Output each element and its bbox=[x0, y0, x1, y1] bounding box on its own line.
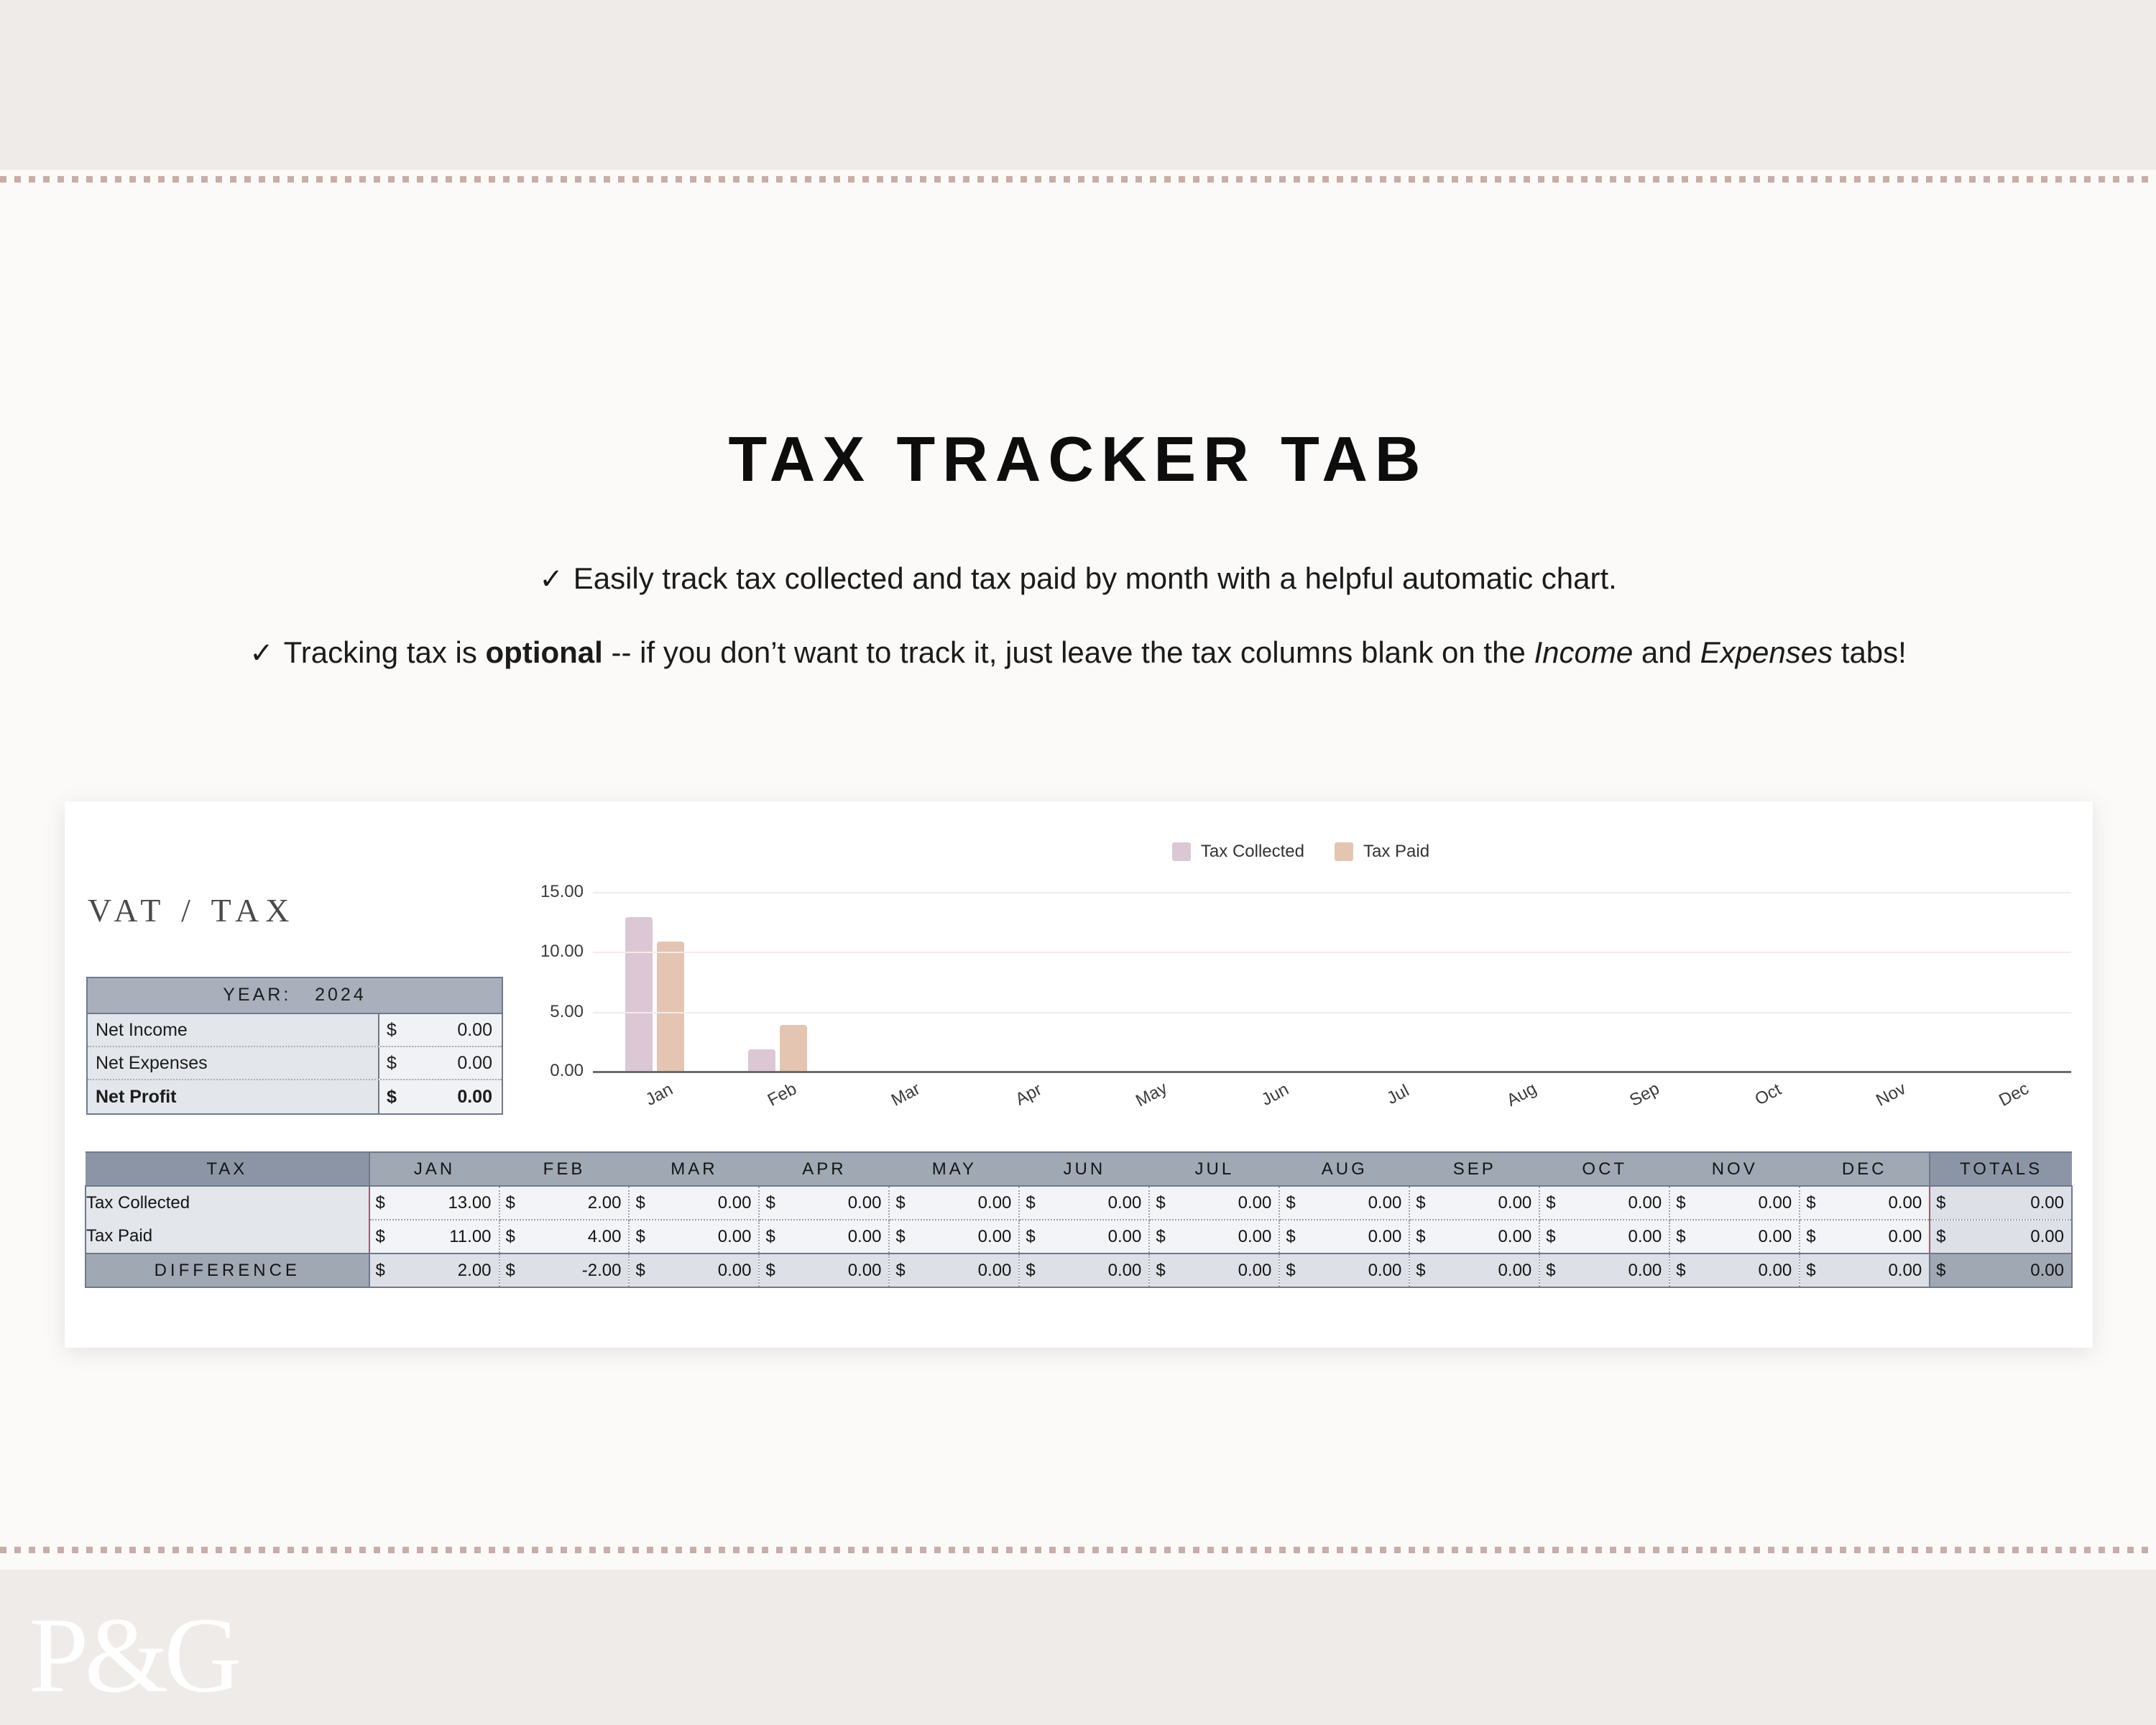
cell-amount: 0.00 bbox=[1108, 1193, 1142, 1213]
currency-symbol: $ bbox=[635, 1261, 645, 1281]
chart-month-slot: Jan bbox=[593, 893, 716, 1073]
chart-bar bbox=[780, 1025, 807, 1073]
currency-symbol: $ bbox=[1676, 1227, 1685, 1247]
currency-symbol: $ bbox=[1546, 1227, 1555, 1247]
currency-symbol: $ bbox=[1546, 1193, 1555, 1213]
chart-legend: Tax CollectedTax Paid bbox=[525, 842, 2077, 862]
bullet-2-text-c: and bbox=[1633, 635, 1700, 669]
cell-amount: 0.00 bbox=[1888, 1261, 1922, 1281]
chart-month-slot: Sep bbox=[1578, 893, 1701, 1073]
table-cell-oct[interactable]: $0.00 bbox=[1539, 1253, 1669, 1287]
table-header-dec: DEC bbox=[1800, 1152, 1930, 1186]
cell-amount: 0.00 bbox=[1628, 1261, 1662, 1281]
summary-label: Net Income bbox=[88, 1020, 378, 1041]
year-row: YEAR: 2024 bbox=[88, 978, 502, 1014]
currency-symbol: $ bbox=[1286, 1193, 1295, 1213]
table-row: Tax Collected$13.00$2.00$0.00$0.00$0.00$… bbox=[86, 1186, 2072, 1220]
tax-bar-chart: Tax CollectedTax Paid JanFebMarAprMayJun… bbox=[525, 830, 2077, 1132]
table-header-row: TAXJANFEBMARAPRMAYJUNJULAUGSEPOCTNOVDECT… bbox=[86, 1152, 2072, 1186]
table-cell-oct[interactable]: $0.00 bbox=[1539, 1186, 1669, 1220]
chart-plot-area: JanFebMarAprMayJunJulAugSepOctNovDec 0.0… bbox=[593, 893, 2071, 1073]
table-cell-jul[interactable]: $0.00 bbox=[1149, 1186, 1279, 1220]
table-cell-jan[interactable]: $2.00 bbox=[369, 1253, 499, 1287]
bullet-item-2: ✓Tracking tax is optional -- if you don’… bbox=[0, 627, 2156, 678]
table-header-apr: APR bbox=[759, 1152, 889, 1186]
table-row-label: Tax Paid bbox=[86, 1220, 369, 1253]
cell-amount: 0.00 bbox=[1498, 1193, 1532, 1213]
table-cell-mar[interactable]: $0.00 bbox=[629, 1186, 759, 1220]
table-cell-jun[interactable]: $0.00 bbox=[1019, 1186, 1149, 1220]
table-cell-jan[interactable]: $13.00 bbox=[369, 1186, 499, 1220]
bullet-2-income-tab: Income bbox=[1534, 635, 1634, 669]
table-cell-apr[interactable]: $0.00 bbox=[759, 1220, 889, 1253]
table-cell-jun[interactable]: $0.00 bbox=[1019, 1220, 1149, 1253]
currency-symbol: $ bbox=[1936, 1193, 1945, 1213]
summary-value-cell: $ 0.00 bbox=[378, 1014, 502, 1046]
table-cell-aug[interactable]: $0.00 bbox=[1279, 1220, 1409, 1253]
legend-swatch-icon bbox=[1335, 842, 1353, 861]
chart-x-tick-label: Dec bbox=[1996, 1079, 2032, 1111]
table-row-label: DIFFERENCE bbox=[86, 1253, 369, 1287]
table-cell-total[interactable]: $0.00 bbox=[1930, 1186, 2072, 1220]
chart-y-tick-label: 15.00 bbox=[540, 882, 584, 902]
feature-bullets: ✓Easily track tax collected and tax paid… bbox=[0, 553, 2156, 678]
summary-amount: 0.00 bbox=[457, 1020, 492, 1041]
chart-month-slot: Mar bbox=[839, 893, 962, 1073]
currency-symbol: $ bbox=[1806, 1261, 1815, 1281]
cell-amount: 0.00 bbox=[1108, 1227, 1142, 1247]
table-header-tax: TAX bbox=[86, 1152, 369, 1186]
currency-symbol: $ bbox=[506, 1227, 515, 1247]
cell-amount: 0.00 bbox=[1368, 1193, 1402, 1213]
table-header-feb: FEB bbox=[499, 1152, 630, 1186]
currency-symbol: $ bbox=[1026, 1261, 1035, 1281]
table-cell-feb[interactable]: $2.00 bbox=[499, 1186, 630, 1220]
currency-symbol: $ bbox=[1416, 1261, 1425, 1281]
chart-x-tick-label: May bbox=[1133, 1078, 1171, 1111]
summary-value-cell: $ 0.00 bbox=[378, 1047, 502, 1079]
chart-x-tick-label: Sep bbox=[1626, 1079, 1663, 1111]
table-header-totals: TOTALS bbox=[1930, 1152, 2072, 1186]
cell-amount: 0.00 bbox=[1498, 1261, 1532, 1281]
spreadsheet-card: VAT / TAX YEAR: 2024 Net Income $ 0.00 N… bbox=[65, 801, 2093, 1348]
table-header-aug: AUG bbox=[1279, 1152, 1409, 1186]
table-cell-dec[interactable]: $0.00 bbox=[1800, 1253, 1930, 1287]
table-cell-nov[interactable]: $0.00 bbox=[1669, 1253, 1800, 1287]
chart-month-slot: Jul bbox=[1332, 893, 1455, 1073]
chart-y-tick-label: 0.00 bbox=[550, 1061, 584, 1081]
summary-row-net-profit: Net Profit $ 0.00 bbox=[88, 1080, 502, 1113]
chart-month-slot: Apr bbox=[962, 893, 1085, 1073]
summary-row-net-expenses: Net Expenses $ 0.00 bbox=[88, 1047, 502, 1080]
cell-amount: 0.00 bbox=[718, 1261, 752, 1281]
bullet-2-emphasis: optional bbox=[486, 635, 603, 669]
year-value[interactable]: 2024 bbox=[315, 985, 367, 1005]
cell-amount: 0.00 bbox=[1108, 1261, 1142, 1281]
chart-x-tick-label: Apr bbox=[1012, 1080, 1045, 1110]
table-header-mar: MAR bbox=[629, 1152, 759, 1186]
top-dotted-divider bbox=[0, 176, 2156, 183]
chart-bar-group: JanFebMarAprMayJunJulAugSepOctNovDec bbox=[593, 893, 2071, 1073]
chart-month-slot: Oct bbox=[1702, 893, 1825, 1073]
bullet-2-text-b: -- if you don’t want to track it, just l… bbox=[603, 635, 1534, 669]
currency-symbol: $ bbox=[1416, 1227, 1425, 1247]
legend-swatch-icon bbox=[1172, 842, 1191, 861]
cell-amount: 0.00 bbox=[1758, 1193, 1792, 1213]
currency-symbol: $ bbox=[1286, 1227, 1295, 1247]
currency-symbol: $ bbox=[1546, 1261, 1555, 1281]
table-cell-mar[interactable]: $0.00 bbox=[629, 1253, 759, 1287]
currency-symbol: $ bbox=[1806, 1193, 1815, 1213]
legend-label: Tax Collected bbox=[1201, 842, 1304, 862]
chart-gridline: 15.00 bbox=[593, 892, 2071, 893]
cell-amount: 0.00 bbox=[1888, 1227, 1922, 1247]
table-cell-dec[interactable]: $0.00 bbox=[1800, 1186, 1930, 1220]
currency-symbol: $ bbox=[1156, 1193, 1165, 1213]
currency-symbol: $ bbox=[1806, 1227, 1815, 1247]
cell-amount: 4.00 bbox=[588, 1227, 622, 1247]
summary-value-cell: $ 0.00 bbox=[378, 1080, 502, 1113]
chart-bar bbox=[657, 942, 684, 1073]
currency-symbol: $ bbox=[895, 1227, 905, 1247]
check-icon: ✓ bbox=[539, 554, 563, 604]
currency-symbol: $ bbox=[1156, 1261, 1165, 1281]
tax-data-table: TAXJANFEBMARAPRMAYJUNJULAUGSEPOCTNOVDECT… bbox=[85, 1151, 2073, 1288]
table-cell-aug[interactable]: $0.00 bbox=[1279, 1253, 1409, 1287]
table-cell-total[interactable]: $0.00 bbox=[1930, 1253, 2072, 1287]
chart-month-slot: Dec bbox=[1948, 893, 2071, 1073]
currency-symbol: $ bbox=[765, 1261, 775, 1281]
table-row: DIFFERENCE$2.00$-2.00$0.00$0.00$0.00$0.0… bbox=[86, 1253, 2072, 1287]
cell-amount: 0.00 bbox=[1238, 1227, 1272, 1247]
table-cell-may[interactable]: $0.00 bbox=[889, 1186, 1019, 1220]
chart-bar bbox=[748, 1049, 775, 1073]
table-header-sep: SEP bbox=[1409, 1152, 1539, 1186]
table-header-may: MAY bbox=[889, 1152, 1019, 1186]
table-cell-nov[interactable]: $0.00 bbox=[1669, 1186, 1800, 1220]
table-row-label: Tax Collected bbox=[86, 1186, 369, 1220]
cell-amount: 0.00 bbox=[978, 1261, 1012, 1281]
currency-symbol: $ bbox=[1026, 1193, 1035, 1213]
currency-symbol: $ bbox=[387, 1087, 397, 1108]
cell-amount: 11.00 bbox=[449, 1227, 491, 1247]
table-cell-may[interactable]: $0.00 bbox=[889, 1220, 1019, 1253]
bottom-dotted-divider bbox=[0, 1547, 2156, 1553]
currency-symbol: $ bbox=[1286, 1261, 1295, 1281]
chart-y-tick-label: 5.00 bbox=[550, 1002, 584, 1022]
table-header-jan: JAN bbox=[369, 1152, 499, 1186]
table-header-jul: JUL bbox=[1149, 1152, 1279, 1186]
currency-symbol: $ bbox=[765, 1227, 775, 1247]
currency-symbol: $ bbox=[1156, 1227, 1165, 1247]
cell-amount: -2.00 bbox=[582, 1261, 622, 1281]
cell-amount: 0.00 bbox=[1758, 1261, 1792, 1281]
table-cell-sep[interactable]: $0.00 bbox=[1409, 1220, 1539, 1253]
chart-bar bbox=[625, 917, 653, 1073]
cell-amount: 0.00 bbox=[1888, 1193, 1922, 1213]
page-title: TAX TRACKER TAB bbox=[0, 423, 2156, 496]
currency-symbol: $ bbox=[387, 1053, 397, 1074]
currency-symbol: $ bbox=[387, 1020, 397, 1041]
check-icon: ✓ bbox=[249, 628, 274, 678]
table-cell-jul[interactable]: $0.00 bbox=[1149, 1253, 1279, 1287]
table-cell-apr[interactable]: $0.00 bbox=[759, 1253, 889, 1287]
cell-amount: 0.00 bbox=[1368, 1227, 1402, 1247]
currency-symbol: $ bbox=[376, 1193, 385, 1213]
table-cell-jan[interactable]: $11.00 bbox=[369, 1220, 499, 1253]
table-cell-sep[interactable]: $0.00 bbox=[1409, 1186, 1539, 1220]
table-cell-oct[interactable]: $0.00 bbox=[1539, 1220, 1669, 1253]
table-cell-total[interactable]: $0.00 bbox=[1930, 1220, 2072, 1253]
cell-amount: 2.00 bbox=[588, 1193, 622, 1213]
chart-gridline: 10.00 bbox=[593, 952, 2071, 953]
chart-x-tick-label: Jul bbox=[1384, 1081, 1413, 1109]
legend-item-1[interactable]: Tax Paid bbox=[1335, 842, 1429, 862]
cell-amount: 0.00 bbox=[1628, 1193, 1662, 1213]
bullet-2-text-a: Tracking tax is bbox=[284, 635, 486, 669]
chart-gridline: 5.00 bbox=[593, 1012, 2071, 1013]
cell-amount: 0.00 bbox=[978, 1193, 1012, 1213]
cell-amount: 2.00 bbox=[458, 1261, 492, 1281]
table-cell-may[interactable]: $0.00 bbox=[889, 1253, 1019, 1287]
currency-symbol: $ bbox=[635, 1227, 645, 1247]
summary-amount: 0.00 bbox=[457, 1053, 492, 1074]
table-cell-sep[interactable]: $0.00 bbox=[1409, 1253, 1539, 1287]
table-cell-jun[interactable]: $0.00 bbox=[1019, 1253, 1149, 1287]
table-row: Tax Paid$11.00$4.00$0.00$0.00$0.00$0.00$… bbox=[86, 1220, 2072, 1253]
table-cell-nov[interactable]: $0.00 bbox=[1669, 1220, 1800, 1253]
cell-amount: 0.00 bbox=[1368, 1261, 1402, 1281]
currency-symbol: $ bbox=[1416, 1193, 1425, 1213]
currency-symbol: $ bbox=[506, 1261, 515, 1281]
summary-amount: 0.00 bbox=[457, 1087, 492, 1108]
cell-amount: 0.00 bbox=[1628, 1227, 1662, 1247]
currency-symbol: $ bbox=[376, 1261, 385, 1281]
year-label: YEAR: bbox=[223, 985, 291, 1005]
currency-symbol: $ bbox=[1936, 1227, 1945, 1247]
table-cell-dec[interactable]: $0.00 bbox=[1800, 1220, 1930, 1253]
currency-symbol: $ bbox=[1026, 1227, 1035, 1247]
table-cell-mar[interactable]: $0.00 bbox=[629, 1220, 759, 1253]
table-cell-apr[interactable]: $0.00 bbox=[759, 1186, 889, 1220]
chart-x-tick-label: Nov bbox=[1873, 1079, 1909, 1111]
cell-amount: 0.00 bbox=[848, 1227, 882, 1247]
currency-symbol: $ bbox=[1676, 1193, 1685, 1213]
cell-amount: 0.00 bbox=[1238, 1193, 1272, 1213]
bullet-1-text: Easily track tax collected and tax paid … bbox=[573, 561, 1617, 595]
currency-symbol: $ bbox=[376, 1227, 385, 1247]
chart-gridline: 0.00 bbox=[593, 1071, 2071, 1073]
cell-amount: 0.00 bbox=[2030, 1193, 2064, 1213]
table-header-oct: OCT bbox=[1539, 1152, 1669, 1186]
cell-amount: 13.00 bbox=[448, 1193, 491, 1213]
cell-amount: 0.00 bbox=[2030, 1227, 2064, 1247]
bullet-2-expenses-tab: Expenses bbox=[1700, 635, 1833, 669]
bullet-2-text-d: tabs! bbox=[1833, 635, 1907, 669]
cell-amount: 0.00 bbox=[848, 1261, 882, 1281]
currency-symbol: $ bbox=[506, 1193, 515, 1213]
chart-month-slot: Aug bbox=[1455, 893, 1578, 1073]
cell-amount: 0.00 bbox=[2030, 1261, 2064, 1281]
chart-month-slot: May bbox=[1086, 893, 1209, 1073]
cell-amount: 0.00 bbox=[1238, 1261, 1272, 1281]
chart-y-tick-label: 10.00 bbox=[540, 942, 584, 962]
chart-month-slot: Jun bbox=[1209, 893, 1332, 1073]
sheet-title: VAT / TAX bbox=[88, 891, 295, 929]
cell-amount: 0.00 bbox=[978, 1227, 1012, 1247]
chart-x-tick-label: Feb bbox=[765, 1079, 801, 1110]
currency-symbol: $ bbox=[895, 1193, 905, 1213]
cell-amount: 0.00 bbox=[1758, 1227, 1792, 1247]
cell-amount: 0.00 bbox=[848, 1193, 882, 1213]
cell-amount: 0.00 bbox=[718, 1193, 752, 1213]
currency-symbol: $ bbox=[895, 1261, 905, 1281]
chart-x-tick-label: Mar bbox=[888, 1079, 923, 1110]
currency-symbol: $ bbox=[1676, 1261, 1685, 1281]
year-summary-box: YEAR: 2024 Net Income $ 0.00 Net Expense… bbox=[86, 977, 503, 1115]
legend-label: Tax Paid bbox=[1363, 842, 1429, 862]
chart-x-tick-label: Jun bbox=[1258, 1080, 1292, 1110]
summary-row-net-income: Net Income $ 0.00 bbox=[88, 1014, 502, 1047]
cell-amount: 0.00 bbox=[718, 1227, 752, 1247]
table-header-jun: JUN bbox=[1019, 1152, 1149, 1186]
table-cell-feb[interactable]: $-2.00 bbox=[499, 1253, 630, 1287]
currency-symbol: $ bbox=[765, 1193, 775, 1213]
chart-month-slot: Nov bbox=[1825, 893, 1948, 1073]
currency-symbol: $ bbox=[635, 1193, 645, 1213]
summary-label: Net Expenses bbox=[88, 1053, 378, 1074]
brand-logo: P&G bbox=[29, 1601, 237, 1709]
summary-label: Net Profit bbox=[88, 1087, 378, 1108]
table-header-nov: NOV bbox=[1669, 1152, 1800, 1186]
cell-amount: 0.00 bbox=[1498, 1227, 1532, 1247]
table-cell-feb[interactable]: $4.00 bbox=[499, 1220, 630, 1253]
chart-month-slot: Feb bbox=[716, 893, 839, 1073]
chart-x-tick-label: Aug bbox=[1503, 1079, 1540, 1111]
table-cell-jul[interactable]: $0.00 bbox=[1149, 1220, 1279, 1253]
table-cell-aug[interactable]: $0.00 bbox=[1279, 1186, 1409, 1220]
bullet-item-1: ✓Easily track tax collected and tax paid… bbox=[0, 553, 2156, 604]
currency-symbol: $ bbox=[1936, 1261, 1945, 1281]
chart-x-tick-label: Jan bbox=[642, 1080, 676, 1110]
chart-x-tick-label: Oct bbox=[1751, 1080, 1784, 1110]
legend-item-0[interactable]: Tax Collected bbox=[1172, 842, 1304, 862]
